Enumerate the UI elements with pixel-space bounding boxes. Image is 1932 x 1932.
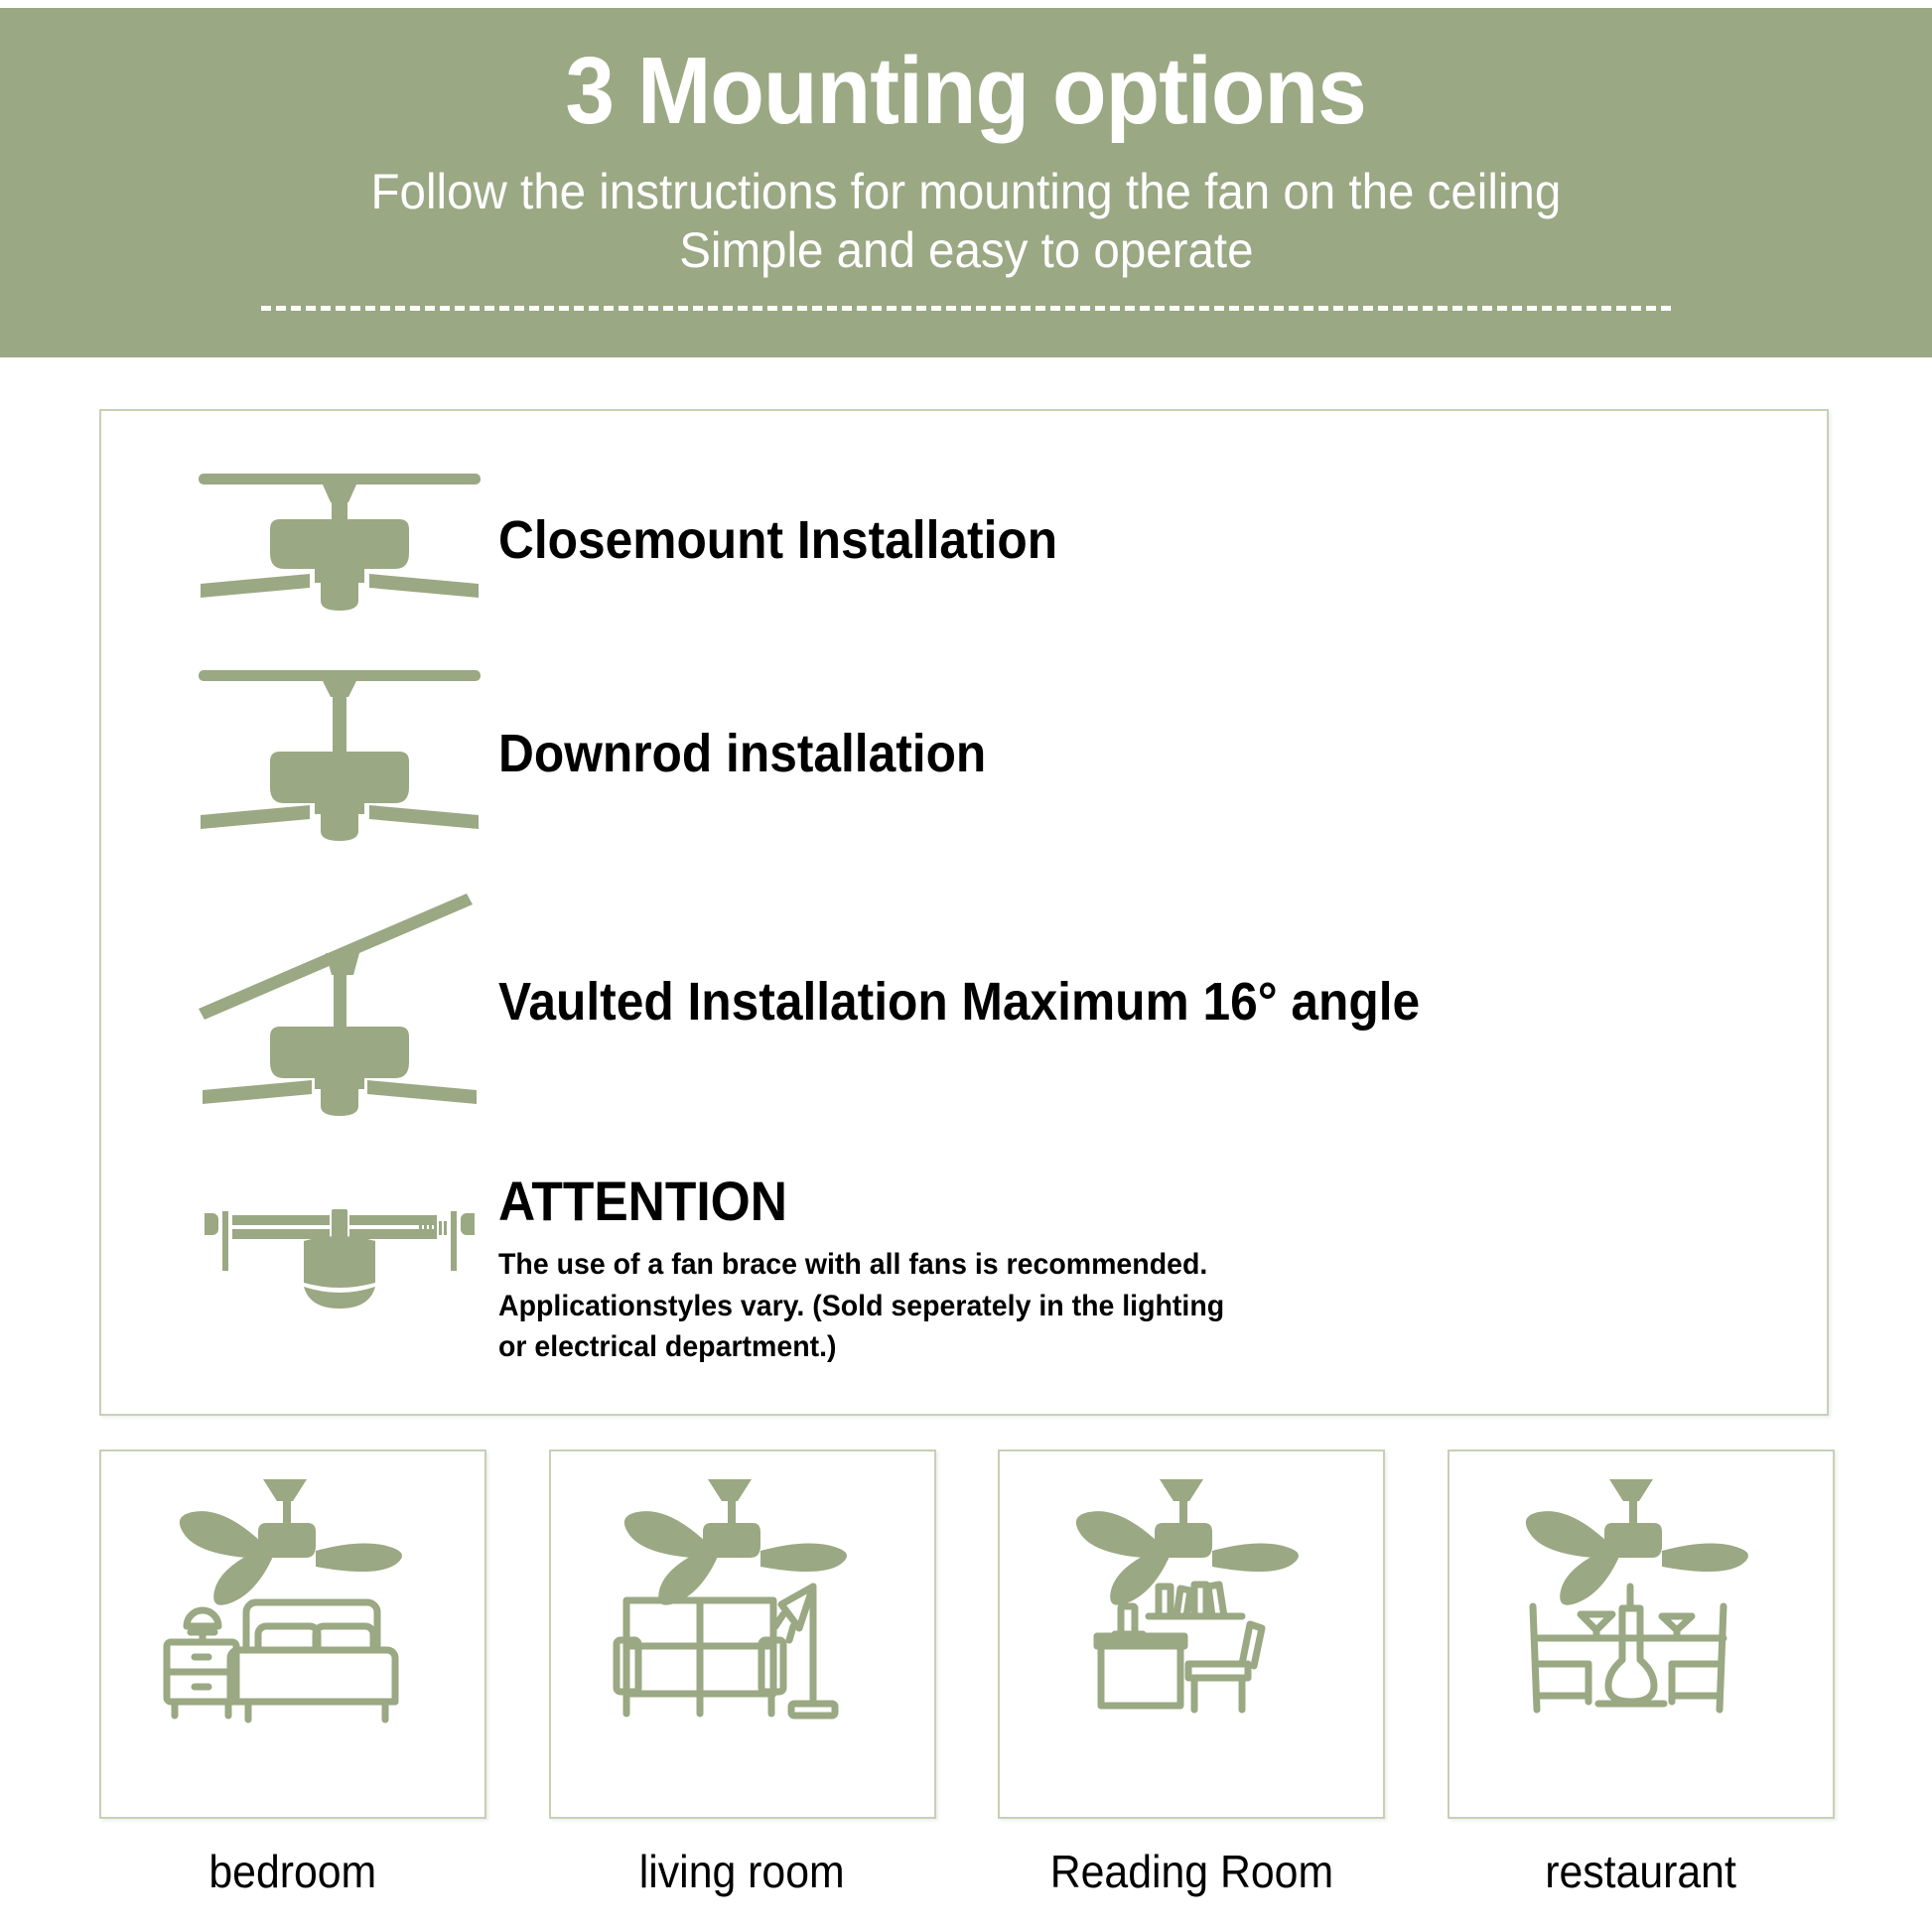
mounting-options-panel: Closemount Installation Downrod installa… bbox=[99, 409, 1829, 1416]
attention-line: Applicationstyles vary. (Sold seperately… bbox=[498, 1286, 1224, 1326]
room-card-frame[interactable] bbox=[1448, 1449, 1835, 1819]
page-header: 3 Mounting options Follow the instructio… bbox=[0, 8, 1932, 357]
room-card-reading-room[interactable]: Reading Room bbox=[998, 1449, 1385, 1916]
mounting-option-label: Closemount Installation bbox=[498, 509, 1057, 571]
living-room-icon bbox=[617, 1479, 847, 1716]
attention-body: The use of a fan brace with all fans is … bbox=[498, 1244, 1263, 1367]
header-subtitle-line-2: Simple and easy to operate bbox=[679, 221, 1253, 280]
room-card-living-room[interactable]: living room bbox=[549, 1449, 936, 1916]
ceiling-fan-downrod-icon bbox=[181, 664, 498, 843]
attention-text-block: ATTENTION The use of a fan brace with al… bbox=[498, 1173, 1263, 1368]
mounting-option-row-vaulted: Vaulted Installation Maximum 16° angle bbox=[181, 868, 1769, 1136]
attention-line: or electrical department.) bbox=[498, 1326, 1224, 1367]
header-dashed-divider bbox=[261, 306, 1671, 311]
room-card-frame[interactable] bbox=[99, 1449, 486, 1819]
bedroom-icon bbox=[167, 1479, 402, 1720]
room-card-label: bedroom bbox=[209, 1845, 377, 1898]
attention-row: ATTENTION The use of a fan brace with al… bbox=[181, 1146, 1769, 1394]
room-card-label: living room bbox=[639, 1845, 845, 1898]
page-title: 3 Mounting options bbox=[566, 44, 1366, 139]
ceiling-fan-vaulted-icon bbox=[181, 888, 498, 1116]
restaurant-icon bbox=[1526, 1479, 1748, 1710]
attention-title: ATTENTION bbox=[498, 1173, 1201, 1231]
mounting-option-row-downrod: Downrod installation bbox=[181, 649, 1769, 858]
room-card-label: restaurant bbox=[1546, 1845, 1737, 1898]
room-card-frame[interactable] bbox=[998, 1449, 1385, 1819]
room-card-bedroom[interactable]: bedroom bbox=[99, 1449, 486, 1916]
mounting-option-label: Downrod installation bbox=[498, 723, 986, 784]
reading-room-icon bbox=[1076, 1479, 1299, 1710]
mounting-option-row-closemount: Closemount Installation bbox=[181, 451, 1769, 629]
attention-line: The use of a fan brace with all fans is … bbox=[498, 1244, 1224, 1285]
ceiling-fan-closemount-icon bbox=[181, 466, 498, 615]
room-card-label: Reading Room bbox=[1050, 1845, 1333, 1898]
room-card-restaurant[interactable]: restaurant bbox=[1448, 1449, 1835, 1916]
fan-brace-icon bbox=[181, 1195, 498, 1344]
mounting-option-label: Vaulted Installation Maximum 16° angle bbox=[498, 971, 1420, 1033]
header-subtitle-line-1: Follow the instructions for mounting the… bbox=[371, 163, 1562, 221]
room-card-frame[interactable] bbox=[549, 1449, 936, 1819]
room-examples-strip: bedroom bbox=[99, 1449, 1835, 1916]
